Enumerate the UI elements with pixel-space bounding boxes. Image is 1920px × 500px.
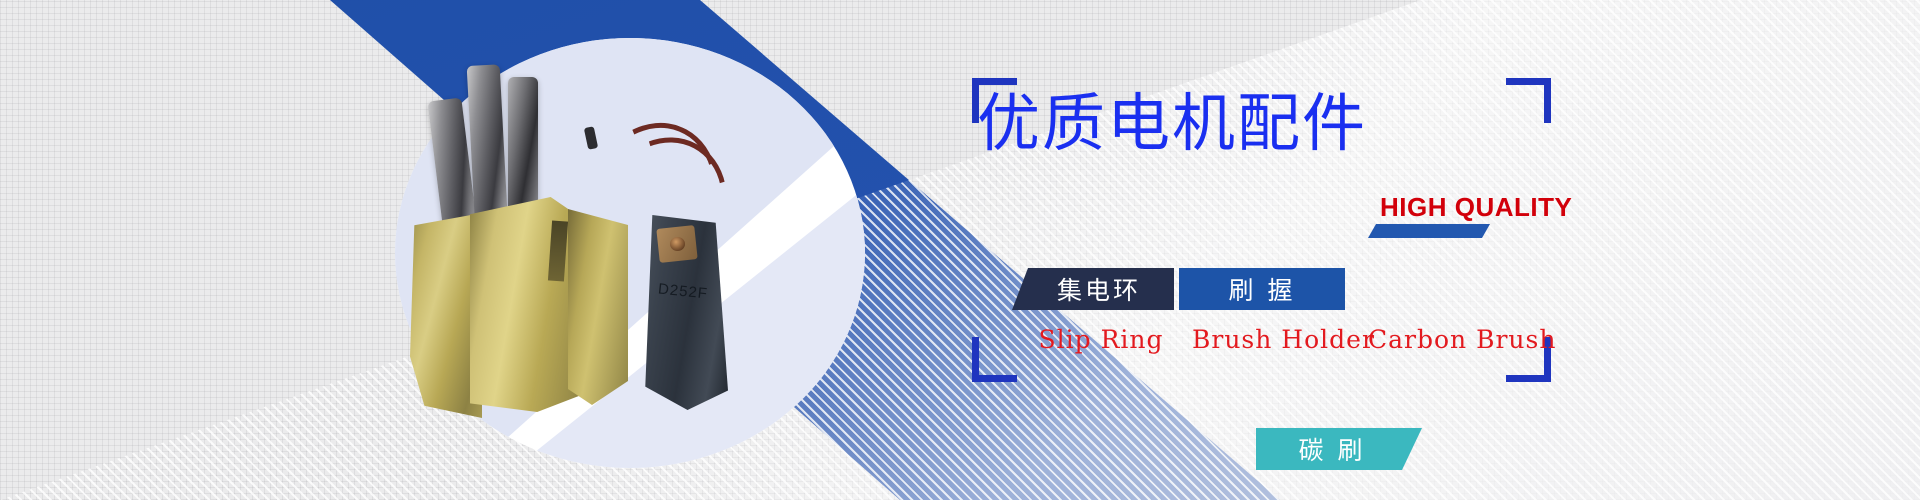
corner-bracket-top-right-icon: [1506, 78, 1551, 123]
label-slip-ring: Slip Ring: [1012, 325, 1190, 354]
tab-slip-ring[interactable]: 集电环: [1012, 268, 1174, 310]
banner-headline: 优质电机配件: [977, 92, 1367, 155]
promo-banner: D252F 优质电机配件 HIGH QUALITY 集电环 刷 握 碳 刷 Sl…: [0, 0, 1920, 500]
carbon-brush-rivet: [670, 237, 685, 251]
product-photo: D252F: [400, 55, 820, 455]
label-brush-holder: Brush Holder: [1192, 325, 1362, 354]
tab-carbon-brush[interactable]: 碳 刷: [1256, 428, 1422, 470]
wire-terminal-icon: [584, 126, 598, 150]
tab-brush-holder[interactable]: 刷 握: [1179, 268, 1345, 310]
category-english-labels: Slip Ring Brush Holder Carbon Brush: [1012, 325, 1532, 354]
banner-subtitle: HIGH QUALITY: [1380, 192, 1572, 223]
category-tab-strip: 集电环 刷 握 碳 刷: [1012, 268, 1345, 310]
corner-bracket-bottom-left-icon: [972, 337, 1017, 382]
label-carbon-brush: Carbon Brush: [1368, 325, 1532, 354]
accent-bar: [1368, 224, 1490, 238]
